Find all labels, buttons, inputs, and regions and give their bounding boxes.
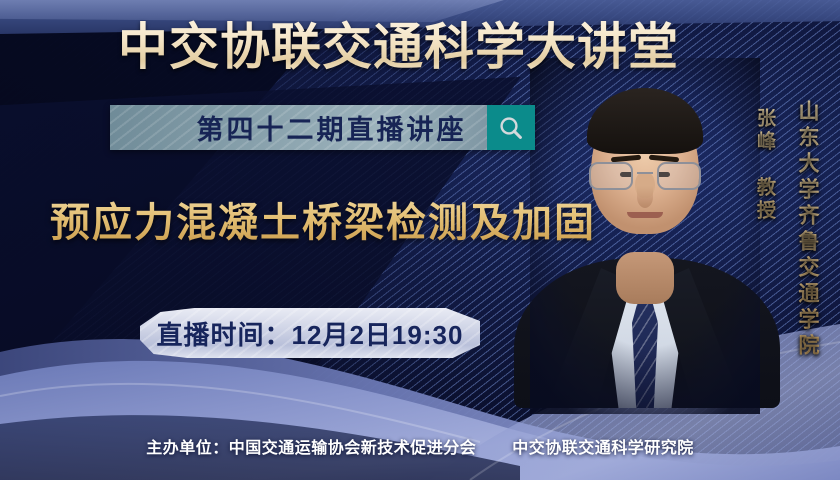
portrait-glasses	[587, 162, 703, 192]
portrait-mouth	[627, 212, 663, 218]
lecture-topic-title: 预应力混凝土桥梁检测及加固	[50, 190, 596, 248]
broadcast-time-badge: 直播时间：12月2日19:30	[140, 308, 480, 358]
glasses-lens-right	[657, 162, 701, 190]
speaker-organization: 山东大学齐鲁交通学院	[792, 100, 822, 360]
portrait-necktie	[632, 296, 658, 408]
footer-organizers: 主办单位：中国交通运输协会新技术促进分会 中交协联交通科学研究院	[0, 434, 840, 458]
glasses-bridge	[637, 172, 653, 174]
portrait-neck	[616, 252, 674, 304]
portrait-hair	[587, 88, 703, 154]
episode-banner-body: 第四十二期直播讲座	[110, 105, 487, 150]
footer-organizer-primary: 主办单位：中国交通运输协会新技术促进分会	[146, 440, 476, 457]
search-icon	[498, 115, 524, 141]
footer-organizer-secondary: 中交协联交通科学研究院	[512, 440, 694, 457]
broadcast-time-label: 直播时间：12月2日19:30	[157, 315, 464, 352]
page-title: 中交协联交通科学大讲堂	[118, 16, 679, 78]
speaker-name: 张峰 教授	[751, 108, 778, 223]
episode-label: 第四十二期直播讲座	[131, 108, 467, 147]
episode-banner: 第四十二期直播讲座	[110, 105, 535, 150]
live-lecture-poster: 中交协联交通科学大讲堂 第四十二期直播讲座 预应力混凝土桥梁检测及加固 直播时间…	[0, 0, 840, 480]
glasses-lens-left	[589, 162, 633, 190]
search-button[interactable]	[487, 105, 535, 150]
